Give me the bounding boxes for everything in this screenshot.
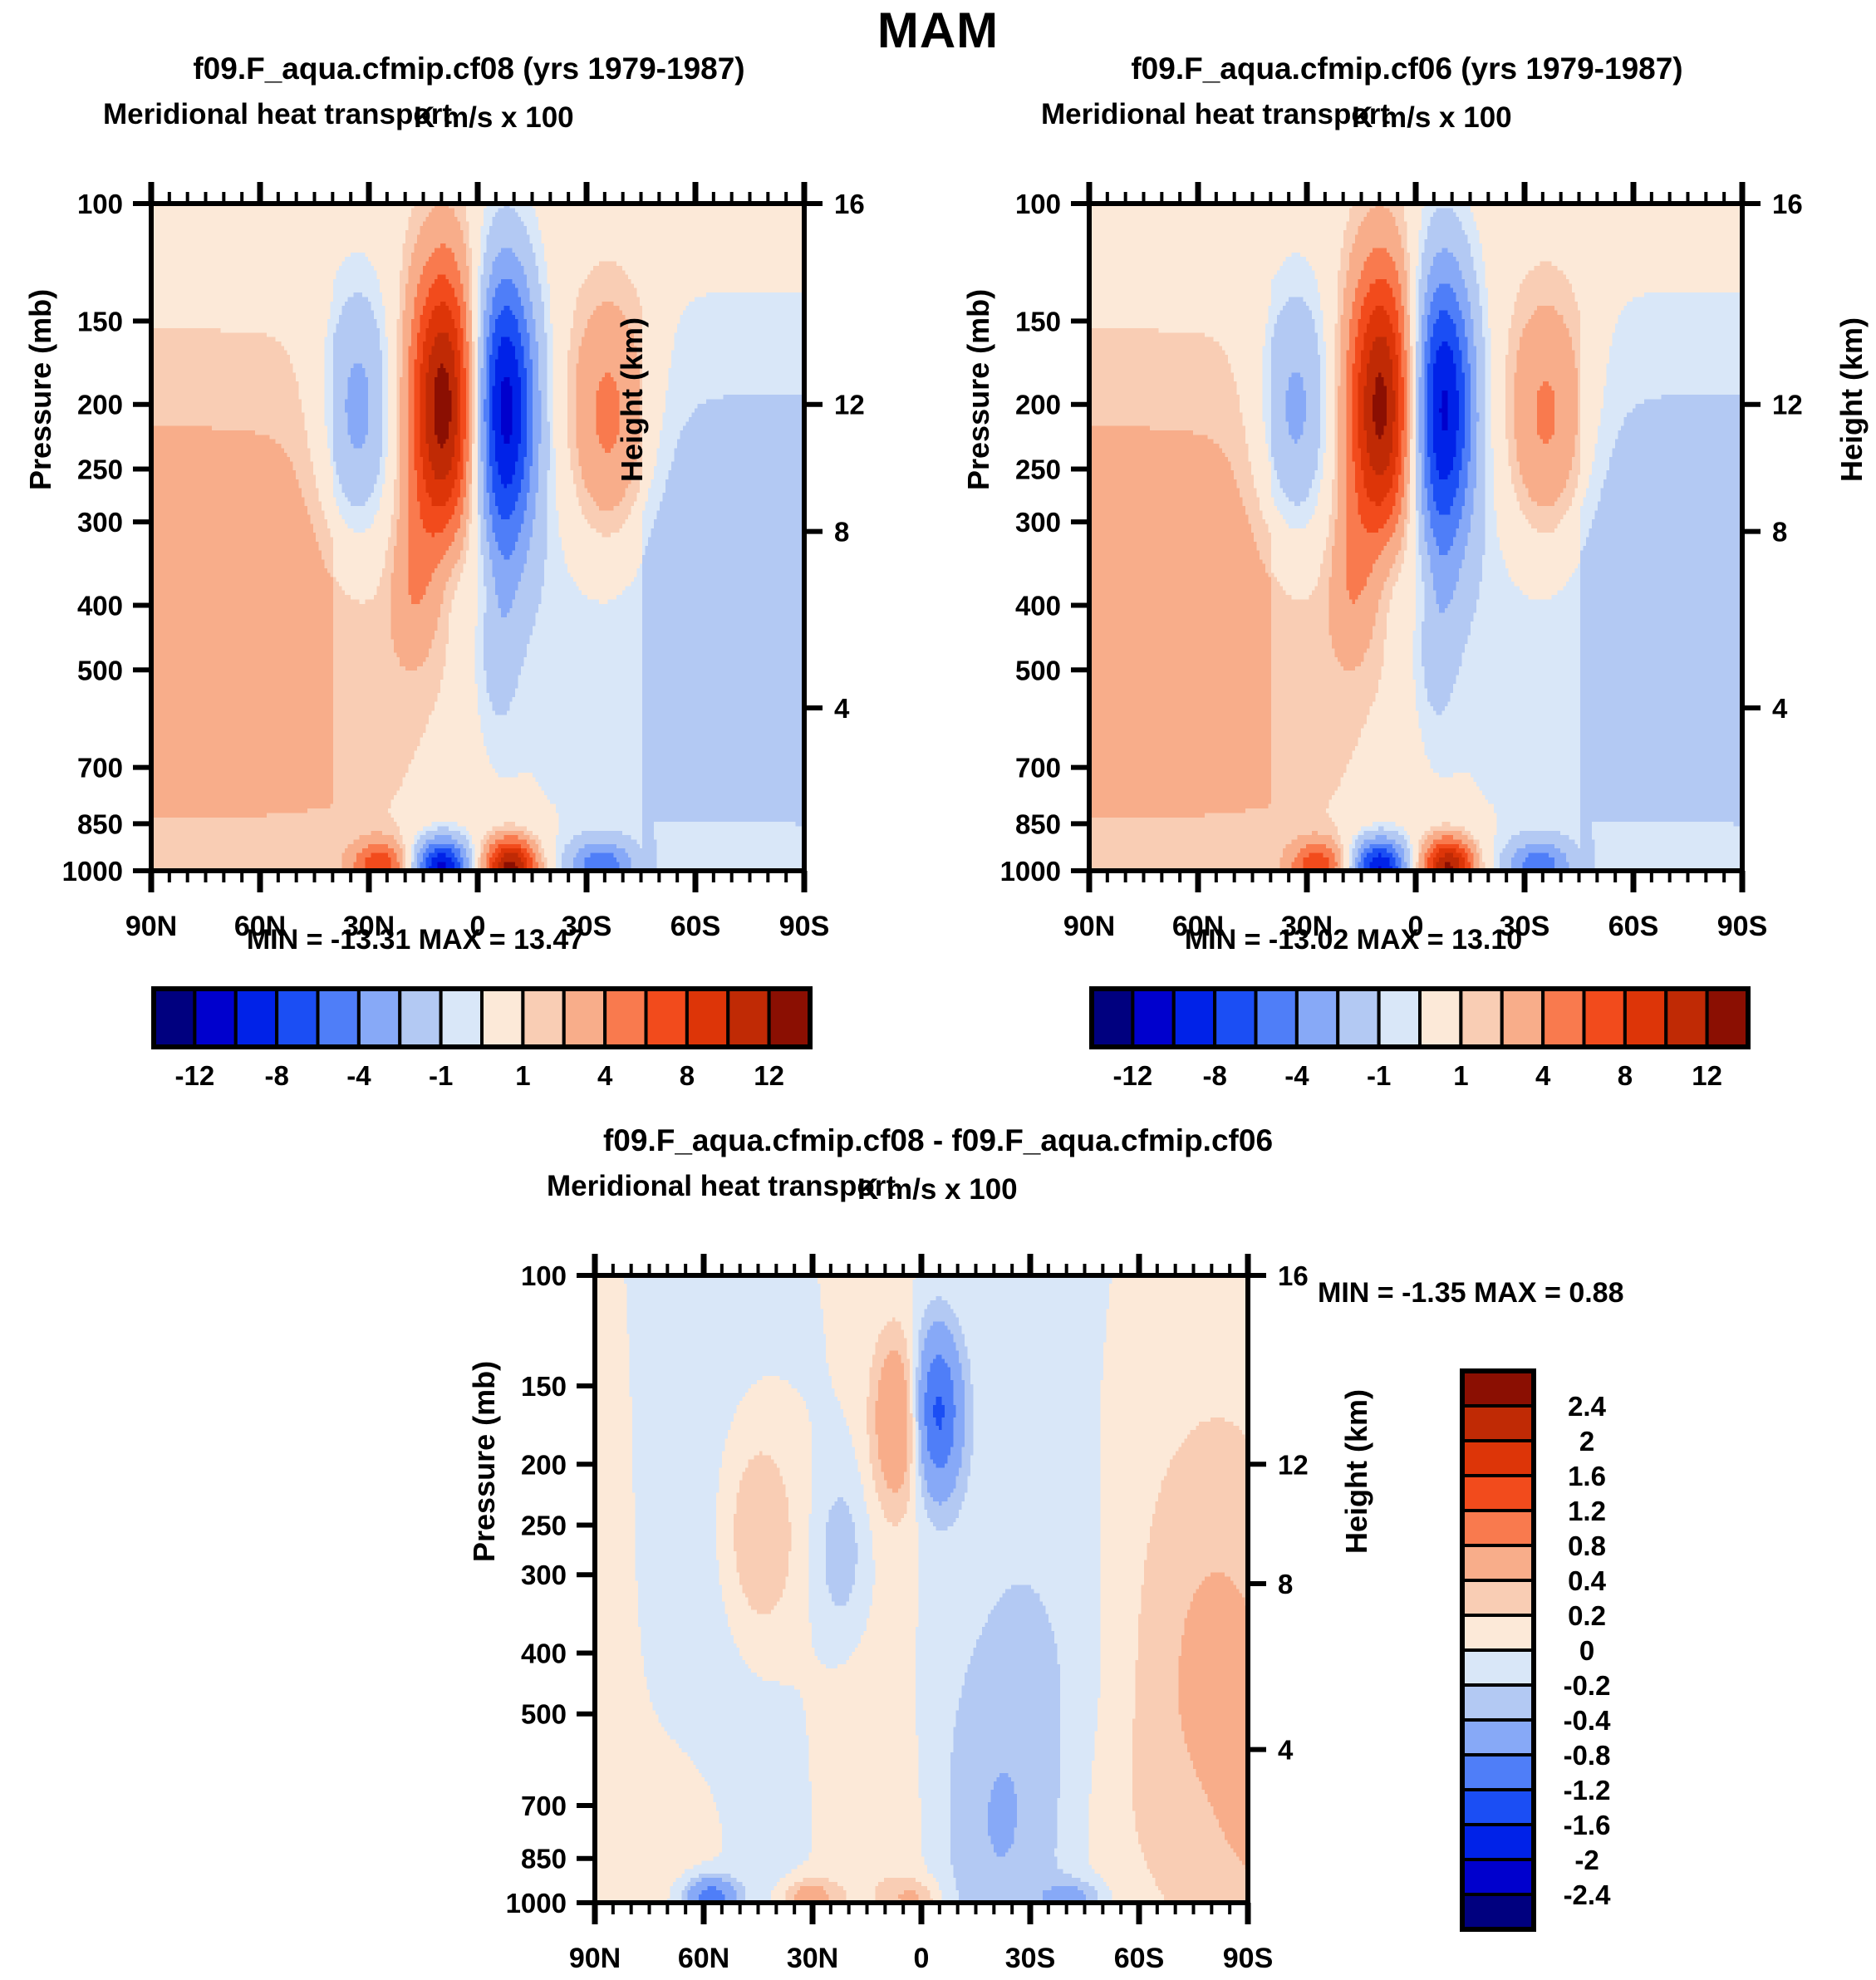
yaxis-left-label-right: Pressure (mb) <box>961 289 996 490</box>
minmax-left: MIN = -13.31 MAX = 13.47 <box>0 924 831 956</box>
contour-plot-diff: 100150200250300400500700850100016128490N… <box>444 1072 1382 1978</box>
minmax-right: MIN = -13.02 MAX = 13.10 <box>938 924 1769 956</box>
colorbar-diff: 2.421.61.20.80.40.20-0.2-0.4-0.8-1.2-1.6… <box>1412 1354 1761 1953</box>
minmax-diff: MIN = -1.35 MAX = 0.88 <box>1318 1277 1624 1309</box>
yaxis-right-label-right: Height (km) <box>1834 317 1869 482</box>
yaxis-right-label-diff: Height (km) <box>1339 1389 1374 1554</box>
figure-root: MAM f09.F_aqua.cfmip.cf08 (yrs 1979-1987… <box>0 0 1876 1980</box>
yaxis-left-label-diff: Pressure (mb) <box>467 1361 502 1562</box>
yaxis-right-label-left: Height (km) <box>615 317 650 482</box>
yaxis-left-label-left: Pressure (mb) <box>23 289 58 490</box>
